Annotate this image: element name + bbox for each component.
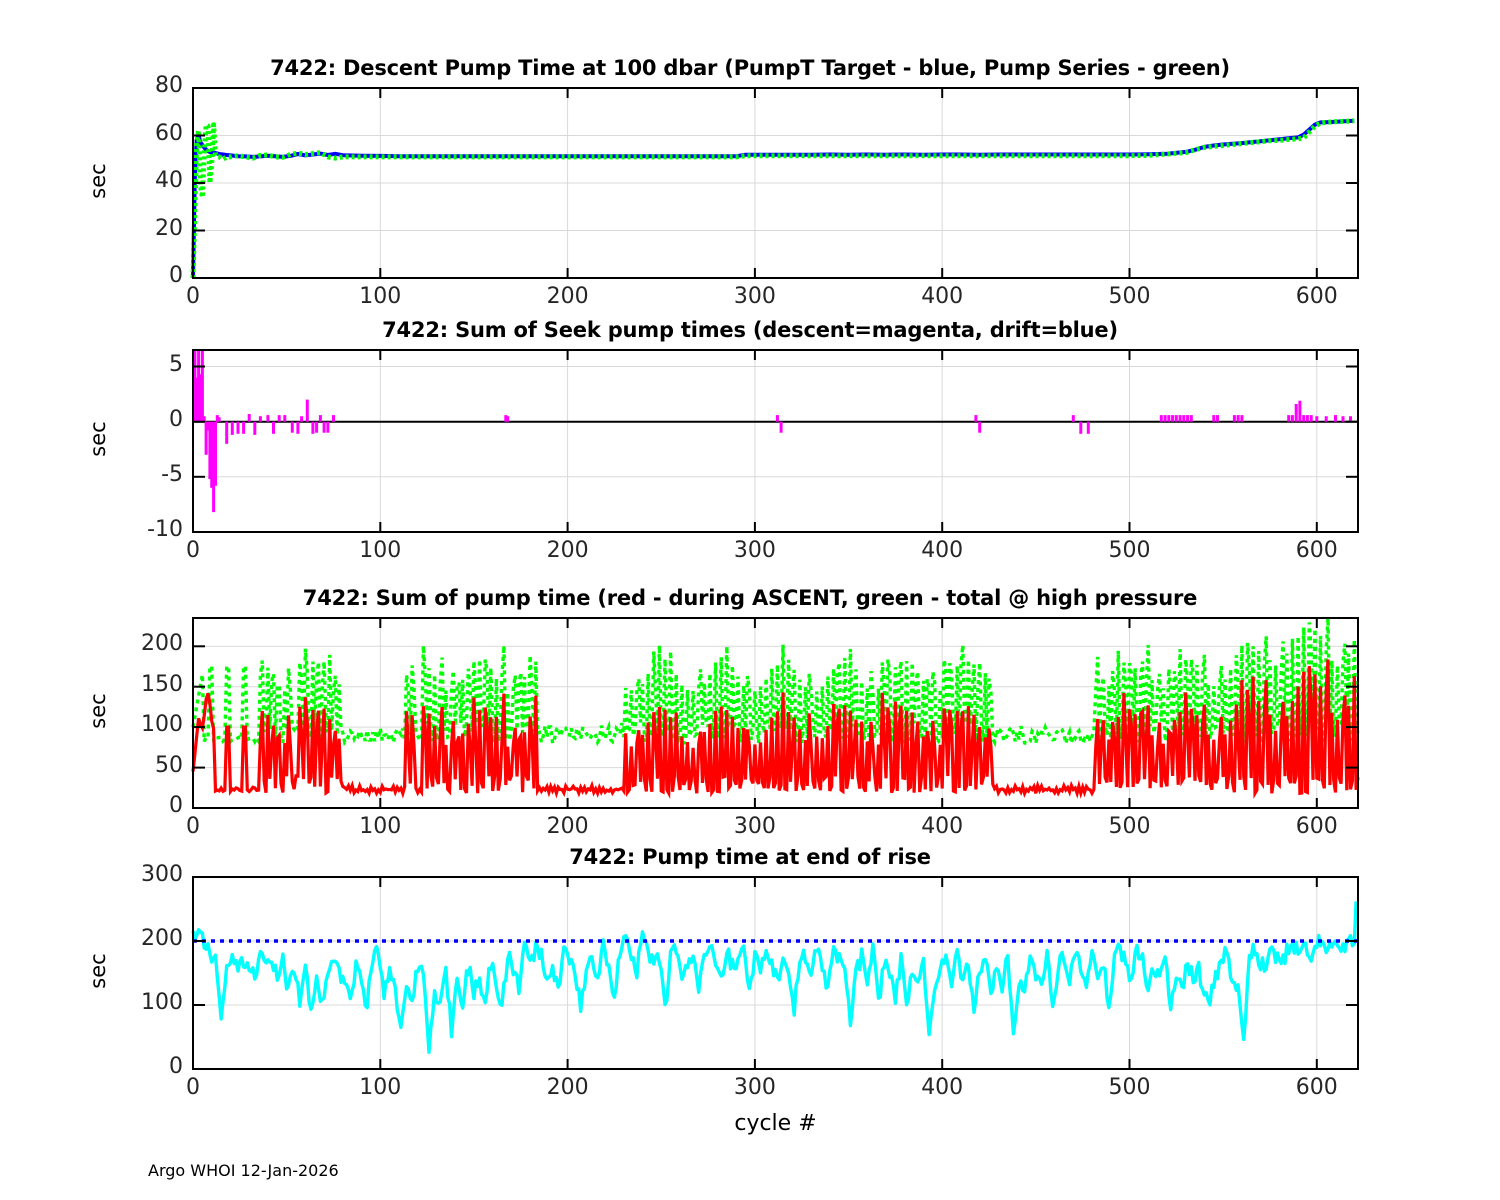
x-tick-label: 600	[1257, 1075, 1377, 1100]
figure-footer: Argo WHOI 12-Jan-2026	[148, 1161, 339, 1180]
x-tick-label: 200	[508, 1075, 628, 1100]
x-tick-label: 100	[320, 1075, 440, 1100]
y-tick-label: 300	[71, 862, 183, 887]
panel-title-pump-time-end-of-rise: 7422: Pump time at end of rise	[0, 845, 1500, 869]
plot-canvas-pump-time-end-of-rise	[0, 0, 1500, 1200]
y-tick-label: 100	[71, 990, 183, 1015]
x-tick-label: 400	[882, 1075, 1002, 1100]
x-tick-label: 500	[1069, 1075, 1189, 1100]
x-axis-label: cycle #	[626, 1111, 926, 1136]
x-tick-label: 300	[695, 1075, 815, 1100]
y-tick-label: 200	[71, 926, 183, 951]
panel-pump-time-end-of-rise: 7422: Pump time at end of risesec0100200…	[0, 0, 1500, 1200]
x-tick-label: 0	[133, 1075, 253, 1100]
argo-float-pump-diagnostics-figure: 7422: Descent Pump Time at 100 dbar (Pum…	[0, 0, 1500, 1200]
